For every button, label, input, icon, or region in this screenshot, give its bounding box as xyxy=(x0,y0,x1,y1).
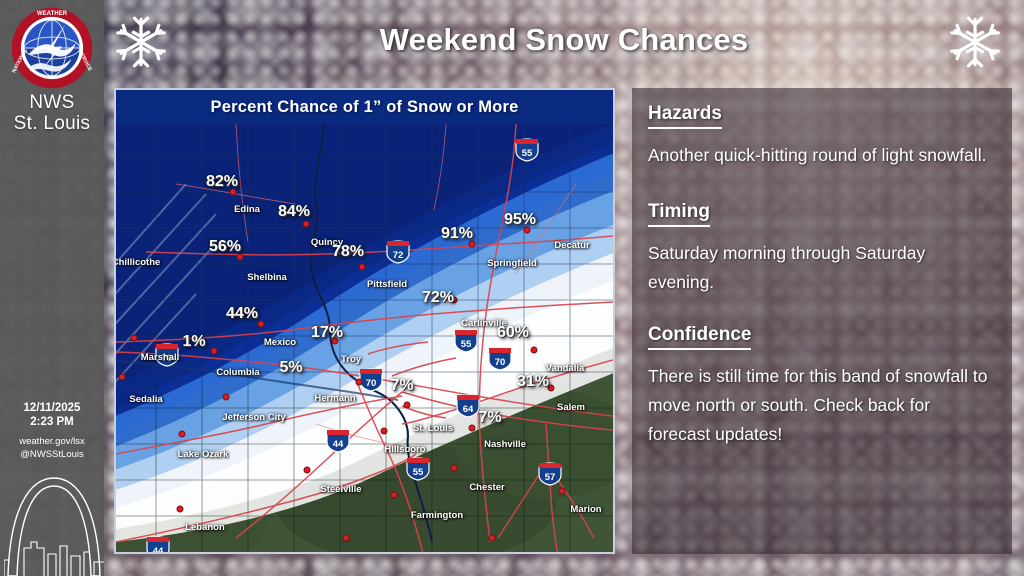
weather-graphic: Weekend Snow Chances xyxy=(0,0,1024,576)
city-label: Cape Girardeau xyxy=(489,552,560,554)
probability-value: 72% xyxy=(422,289,454,307)
city-label: Chester xyxy=(469,482,504,493)
sidebar: WEATHER NATIONAL SERVICE NWS St. Louis 1… xyxy=(0,0,104,576)
confidence-body: There is still time for this band of sno… xyxy=(648,362,994,449)
probability-value: 7% xyxy=(478,409,501,427)
interstate-shield-64: 64 xyxy=(455,394,481,418)
office-name-line2: St. Louis xyxy=(0,113,104,134)
city-dot xyxy=(343,535,350,542)
interstate-shield-44: 44 xyxy=(325,429,351,453)
interstate-shield-55: 55 xyxy=(405,457,431,481)
gateway-arch-icon xyxy=(4,464,104,576)
header: Weekend Snow Chances xyxy=(104,0,1024,86)
svg-text:55: 55 xyxy=(413,467,424,478)
confidence-heading: Confidence xyxy=(648,323,751,350)
svg-text:57: 57 xyxy=(545,472,556,483)
probability-value: 95% xyxy=(504,211,536,229)
city-dot xyxy=(404,402,411,409)
map-panel[interactable]: Percent Chance of 1” of Snow or More xyxy=(114,88,615,554)
city-dot xyxy=(258,321,265,328)
city-label: Lebanon xyxy=(185,522,225,533)
svg-text:55: 55 xyxy=(522,148,533,159)
city-dot xyxy=(391,492,398,499)
city-dot xyxy=(303,221,310,228)
city-dot xyxy=(559,488,566,495)
office-name-line1: NWS xyxy=(0,92,104,113)
probability-value: 44% xyxy=(226,305,258,323)
probability-value: 5% xyxy=(279,359,302,377)
issue-time: 2:23 PM xyxy=(0,415,104,429)
city-label: Mexico xyxy=(264,337,296,348)
svg-text:44: 44 xyxy=(153,546,164,554)
nws-seal-icon: WEATHER NATIONAL SERVICE xyxy=(10,6,94,90)
office-name: NWS St. Louis xyxy=(0,92,104,134)
city-label: Hillsboro xyxy=(384,444,425,455)
city-label: Lake Ozark xyxy=(178,449,229,460)
probability-value: 7% xyxy=(390,377,413,395)
city-dot xyxy=(381,428,388,435)
city-label: Marion xyxy=(570,504,601,515)
probability-value: 84% xyxy=(278,203,310,221)
city-dot xyxy=(177,506,184,513)
city-label: Edina xyxy=(234,204,260,215)
svg-text:70: 70 xyxy=(495,357,506,368)
city-label: Shelbina xyxy=(247,272,287,283)
city-dot xyxy=(223,394,230,401)
interstate-shield-55: 55 xyxy=(514,138,540,162)
svg-text:WEATHER: WEATHER xyxy=(37,11,68,17)
city-dot xyxy=(531,347,538,354)
map-title: Percent Chance of 1” of Snow or More xyxy=(211,98,519,117)
probability-value: 1% xyxy=(182,333,205,351)
probability-value: 82% xyxy=(206,173,238,191)
interstate-shield-70: 70 xyxy=(487,347,513,371)
svg-text:44: 44 xyxy=(333,439,344,450)
city-dot xyxy=(489,535,496,542)
city-label: Centerville xyxy=(356,553,405,554)
city-dot xyxy=(469,425,476,432)
city-label: Nashville xyxy=(484,439,526,450)
city-dot xyxy=(359,264,366,271)
svg-text:70: 70 xyxy=(366,378,377,389)
city-label: Troy xyxy=(341,354,361,365)
city-label: Steelville xyxy=(320,484,361,495)
svg-text:64: 64 xyxy=(463,404,474,415)
city-label: Chillicothe xyxy=(116,257,160,268)
info-panel: Hazards Another quick-hitting round of l… xyxy=(632,88,1012,554)
city-dot xyxy=(304,467,311,474)
hazards-body: Another quick-hitting round of light sno… xyxy=(648,141,994,170)
city-label: Decatur xyxy=(554,240,589,251)
issue-date: 12/11/2025 xyxy=(0,401,104,415)
city-dot xyxy=(131,335,138,342)
map-header: Percent Chance of 1” of Snow or More xyxy=(116,90,613,124)
city-label: Columbia xyxy=(216,367,259,378)
city-label: Marshall xyxy=(141,352,180,363)
city-label: St. Louis xyxy=(413,423,453,434)
svg-text:72: 72 xyxy=(393,250,404,261)
probability-value: 78% xyxy=(332,243,364,261)
svg-text:55: 55 xyxy=(461,339,472,350)
hazards-heading: Hazards xyxy=(648,102,722,129)
timing-heading: Timing xyxy=(648,200,710,227)
probability-value: 17% xyxy=(311,324,343,342)
probability-value: 91% xyxy=(441,225,473,243)
timestamp-block: 12/11/2025 2:23 PM weather.gov/lsx @NWSS… xyxy=(0,401,104,461)
city-dot xyxy=(179,431,186,438)
page-title: Weekend Snow Chances xyxy=(104,22,1024,58)
city-dot xyxy=(356,379,363,386)
interstate-shield-72: 72 xyxy=(385,240,411,264)
interstate-shield-44: 44 xyxy=(145,536,171,554)
city-label: Springfield xyxy=(487,258,537,269)
city-label: Salem xyxy=(557,402,585,413)
city-label: Vandalia xyxy=(546,363,585,374)
social-handle[interactable]: @NWSStLouis xyxy=(0,448,104,461)
probability-value: 56% xyxy=(209,238,241,256)
interstate-shield-57: 57 xyxy=(537,462,563,486)
city-dot xyxy=(211,348,218,355)
city-label: Hermann xyxy=(314,393,355,404)
city-label: Sedalia xyxy=(129,394,162,405)
website-link[interactable]: weather.gov/lsx xyxy=(0,435,104,448)
map-canvas[interactable]: 55 72 55 xyxy=(116,124,613,554)
city-label: Farmington xyxy=(411,510,463,521)
probability-value: 60% xyxy=(497,324,529,342)
city-label: Pittsfield xyxy=(367,279,407,290)
snowflake-icon xyxy=(948,15,1002,69)
city-dot xyxy=(451,465,458,472)
city-label: Jefferson City xyxy=(222,412,285,423)
timing-body: Saturday morning through Saturday evenin… xyxy=(648,239,994,297)
probability-value: 31% xyxy=(517,373,549,391)
city-dot xyxy=(119,374,126,381)
interstate-shield-55: 55 xyxy=(453,329,479,353)
